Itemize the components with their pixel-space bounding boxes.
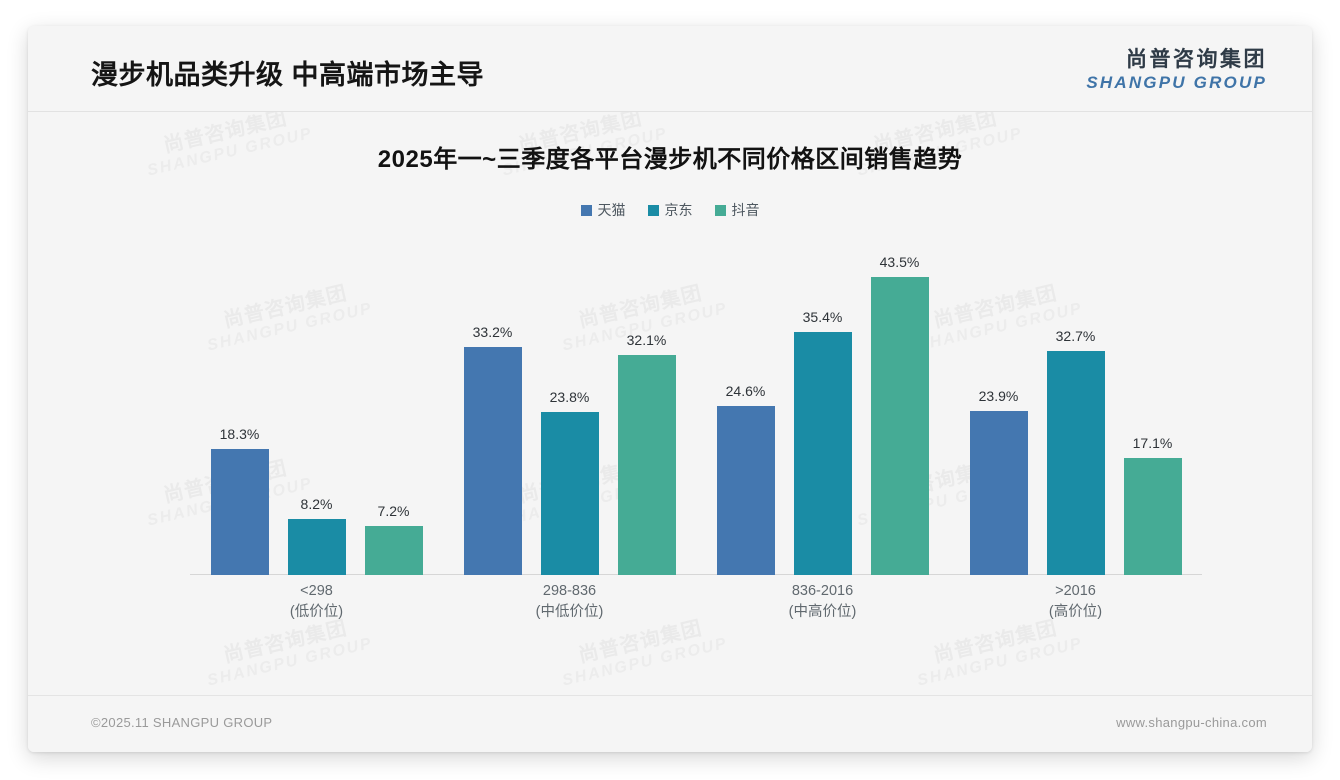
bar-value-label: 23.9% bbox=[979, 388, 1019, 404]
bar-group: 18.3%8.2%7.2% bbox=[190, 232, 443, 575]
brand-logo: 尚普咨询集团 SHANGPU GROUP bbox=[1086, 49, 1267, 91]
x-axis-label: 298-836(中低价位) bbox=[443, 581, 696, 637]
bar-value-label: 24.6% bbox=[726, 383, 766, 399]
chart-title: 2025年一~三季度各平台漫步机不同价格区间销售趋势 bbox=[28, 112, 1312, 174]
bar-value-label: 35.4% bbox=[803, 309, 843, 325]
bar-groups: 18.3%8.2%7.2%33.2%23.8%32.1%24.6%35.4%43… bbox=[190, 232, 1202, 575]
bar-item[interactable]: 24.6% bbox=[717, 232, 775, 575]
slide-card: 漫步机品类升级 中高端市场主导 尚普咨询集团 SHANGPU GROUP 尚普咨… bbox=[28, 26, 1312, 752]
bar-rect[interactable] bbox=[618, 355, 676, 575]
page-root: 漫步机品类升级 中高端市场主导 尚普咨询集团 SHANGPU GROUP 尚普咨… bbox=[0, 0, 1340, 780]
bar-rect[interactable] bbox=[365, 526, 423, 575]
bar-item[interactable]: 8.2% bbox=[288, 232, 346, 575]
x-axis-label: >2016(高价位) bbox=[949, 581, 1202, 637]
x-axis-labels: <298(低价位)298-836(中低价位)836-2016(中高价位)>201… bbox=[190, 581, 1202, 637]
legend-label: 天猫 bbox=[598, 200, 626, 220]
legend-label: 抖音 bbox=[732, 200, 760, 220]
bar-value-label: 8.2% bbox=[301, 496, 333, 512]
x-axis-label-tier: (低价位) bbox=[190, 602, 443, 623]
x-axis-label-tier: (中低价位) bbox=[443, 602, 696, 623]
bar-item[interactable]: 33.2% bbox=[464, 232, 522, 575]
bar-value-label: 32.7% bbox=[1056, 328, 1096, 344]
bar-item[interactable]: 23.9% bbox=[970, 232, 1028, 575]
bar-rect[interactable] bbox=[288, 519, 346, 575]
footer-copyright: ©2025.11 SHANGPU GROUP bbox=[91, 715, 272, 730]
legend-item-天猫[interactable]: 天猫 bbox=[581, 200, 626, 220]
legend-item-抖音[interactable]: 抖音 bbox=[715, 200, 760, 220]
slide-body: 尚普咨询集团SHANGPU GROUP尚普咨询集团SHANGPU GROUP尚普… bbox=[28, 112, 1312, 695]
bar-item[interactable]: 32.1% bbox=[618, 232, 676, 575]
bar-item[interactable]: 7.2% bbox=[365, 232, 423, 575]
x-axis-label-range: >2016 bbox=[1055, 583, 1096, 599]
bar-rect[interactable] bbox=[464, 347, 522, 575]
bar-rect[interactable] bbox=[1124, 458, 1182, 575]
bar-group: 23.9%32.7%17.1% bbox=[949, 232, 1202, 575]
legend-swatch-icon bbox=[715, 205, 726, 216]
bar-rect[interactable] bbox=[541, 412, 599, 575]
bar-rect[interactable] bbox=[794, 332, 852, 575]
bar-rect[interactable] bbox=[211, 449, 269, 575]
chart-legend: 天猫京东抖音 bbox=[28, 200, 1312, 220]
bar-value-label: 18.3% bbox=[220, 426, 260, 442]
x-axis-label-range: <298 bbox=[300, 583, 333, 599]
slide-header: 漫步机品类升级 中高端市场主导 尚普咨询集团 SHANGPU GROUP bbox=[28, 26, 1312, 112]
legend-swatch-icon bbox=[648, 205, 659, 216]
chart-plot: 18.3%8.2%7.2%33.2%23.8%32.1%24.6%35.4%43… bbox=[120, 226, 1220, 651]
bar-group: 24.6%35.4%43.5% bbox=[696, 232, 949, 575]
footer-website: www.shangpu-china.com bbox=[1116, 715, 1267, 730]
legend-swatch-icon bbox=[581, 205, 592, 216]
x-axis-label-range: 298-836 bbox=[543, 583, 596, 599]
x-axis-label: 836-2016(中高价位) bbox=[696, 581, 949, 637]
page-title: 漫步机品类升级 中高端市场主导 bbox=[91, 53, 484, 92]
bar-value-label: 7.2% bbox=[378, 503, 410, 519]
bar-value-label: 33.2% bbox=[473, 324, 513, 340]
bar-rect[interactable] bbox=[1047, 351, 1105, 575]
bar-value-label: 17.1% bbox=[1133, 435, 1173, 451]
bar-value-label: 43.5% bbox=[880, 254, 920, 270]
bar-item[interactable]: 43.5% bbox=[871, 232, 929, 575]
bar-item[interactable]: 18.3% bbox=[211, 232, 269, 575]
bar-value-label: 32.1% bbox=[627, 332, 667, 348]
bar-item[interactable]: 35.4% bbox=[794, 232, 852, 575]
bar-item[interactable]: 23.8% bbox=[541, 232, 599, 575]
bar-rect[interactable] bbox=[970, 411, 1028, 575]
legend-label: 京东 bbox=[665, 200, 693, 220]
legend-item-京东[interactable]: 京东 bbox=[648, 200, 693, 220]
bar-rect[interactable] bbox=[717, 406, 775, 575]
bar-group: 33.2%23.8%32.1% bbox=[443, 232, 696, 575]
bar-rect[interactable] bbox=[871, 277, 929, 575]
bar-item[interactable]: 17.1% bbox=[1124, 232, 1182, 575]
bar-item[interactable]: 32.7% bbox=[1047, 232, 1105, 575]
x-axis-label-tier: (高价位) bbox=[949, 602, 1202, 623]
x-axis-label-range: 836-2016 bbox=[792, 583, 853, 599]
x-axis-label: <298(低价位) bbox=[190, 581, 443, 637]
plot-area: 18.3%8.2%7.2%33.2%23.8%32.1%24.6%35.4%43… bbox=[190, 232, 1202, 575]
bar-value-label: 23.8% bbox=[550, 389, 590, 405]
x-axis-label-tier: (中高价位) bbox=[696, 602, 949, 623]
slide-footer: ©2025.11 SHANGPU GROUP www.shangpu-china… bbox=[28, 695, 1312, 752]
logo-text-cn: 尚普咨询集团 bbox=[1086, 49, 1267, 70]
logo-text-en: SHANGPU GROUP bbox=[1086, 74, 1267, 91]
